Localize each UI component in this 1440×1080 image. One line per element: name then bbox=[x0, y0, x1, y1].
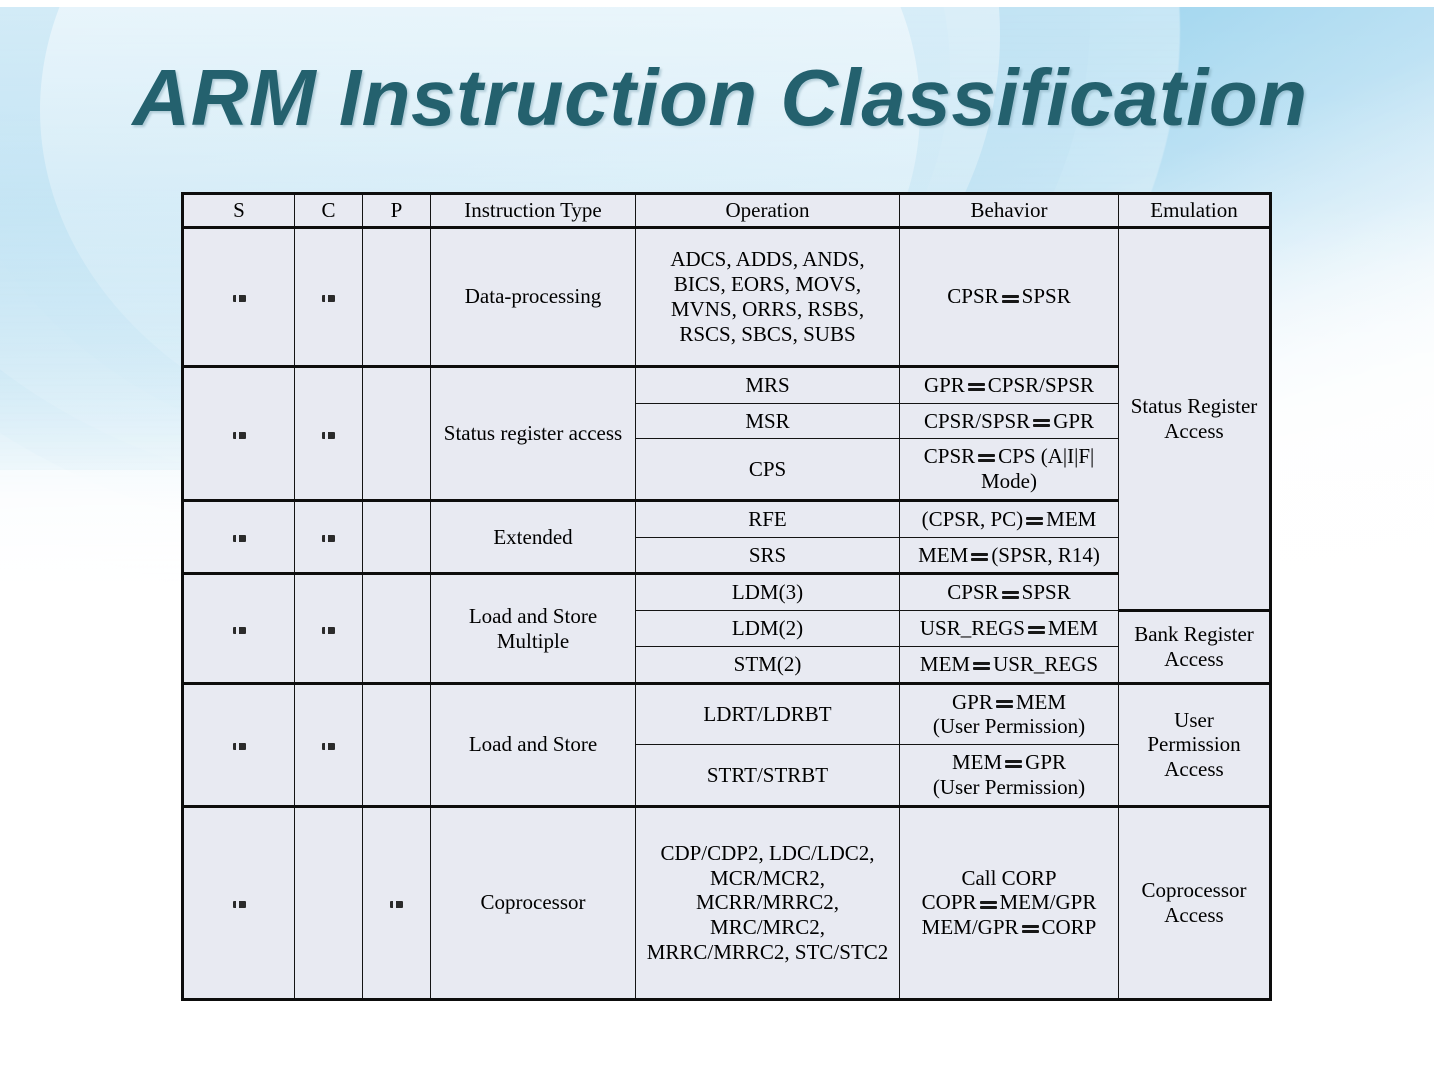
behavior-source: (CPSR, PC) bbox=[922, 507, 1024, 531]
slide-canvas: ARM Instruction Classification S C P Ins… bbox=[0, 0, 1440, 1080]
behavior-target: GPR bbox=[1025, 750, 1066, 774]
cell-operation-cps: CPS bbox=[636, 439, 900, 501]
table-header: S C P Instruction Type Operation Behavio… bbox=[183, 194, 1271, 228]
cell-operation-msr: MSR bbox=[636, 403, 900, 439]
cell-s-extended bbox=[183, 500, 295, 574]
column-header-instruction-type: Instruction Type bbox=[431, 194, 636, 228]
cell-s-load-store-multiple bbox=[183, 574, 295, 683]
check-icon bbox=[233, 625, 246, 636]
page-title: ARM Instruction Classification bbox=[0, 52, 1440, 144]
cell-s-load-store bbox=[183, 683, 295, 806]
behavior-target: MEM bbox=[1048, 616, 1098, 640]
cell-operation-coprocessor: CDP/CDP2, LDC/LDC2, MCR/MCR2, MCRR/MRRC2… bbox=[636, 806, 900, 999]
cell-behavior-stm2: MEMUSR_REGS bbox=[900, 646, 1119, 683]
cell-p-status-register-access bbox=[363, 366, 431, 500]
behavior-source: MEM/GPR bbox=[922, 915, 1019, 939]
cell-c-coprocessor bbox=[295, 806, 363, 999]
behavior-target: MEM bbox=[1046, 507, 1096, 531]
behavior-source: CPSR bbox=[947, 284, 998, 308]
assign-arrow-icon bbox=[996, 698, 1013, 710]
behavior-source: MEM bbox=[918, 543, 968, 567]
cell-operation-rfe: RFE bbox=[636, 500, 900, 537]
cell-c-load-store-multiple bbox=[295, 574, 363, 683]
behavior-source: COPR bbox=[922, 890, 977, 914]
check-icon bbox=[233, 741, 246, 752]
cell-p-load-store-multiple bbox=[363, 574, 431, 683]
check-icon bbox=[322, 430, 335, 441]
assign-arrow-icon bbox=[1028, 624, 1045, 636]
table-row: Load and Store Multiple LDM(3) CPSRSPSR bbox=[183, 574, 1271, 611]
behavior-source: MEM bbox=[952, 750, 1002, 774]
assign-arrow-icon bbox=[968, 381, 985, 393]
assign-arrow-icon bbox=[1002, 293, 1019, 305]
cell-s-data-processing bbox=[183, 227, 295, 366]
table-body: Data-processing ADCS, ADDS, ANDS, BICS, … bbox=[183, 227, 1271, 999]
assign-arrow-icon bbox=[973, 660, 990, 672]
cell-type-coprocessor: Coprocessor bbox=[431, 806, 636, 999]
cell-operation-ldm2: LDM(2) bbox=[636, 611, 900, 647]
check-icon bbox=[233, 430, 246, 441]
column-header-emulation: Emulation bbox=[1119, 194, 1271, 228]
column-header-behavior: Behavior bbox=[900, 194, 1119, 228]
cell-c-data-processing bbox=[295, 227, 363, 366]
cell-type-extended: Extended bbox=[431, 500, 636, 574]
cell-type-load-store-multiple: Load and Store Multiple bbox=[431, 574, 636, 683]
assign-arrow-icon bbox=[978, 452, 995, 464]
behavior-source: CPSR bbox=[947, 580, 998, 604]
cell-c-load-store bbox=[295, 683, 363, 806]
behavior-target: CPSR/SPSR bbox=[988, 373, 1094, 397]
behavior-target: GPR bbox=[1053, 409, 1094, 433]
background-top-margin bbox=[0, 0, 1440, 7]
cell-behavior-mrs: GPRCPSR/SPSR bbox=[900, 366, 1119, 403]
table-row: Load and Store LDRT/LDRBT GPRMEM (User P… bbox=[183, 683, 1271, 745]
behavior-target: SPSR bbox=[1022, 284, 1071, 308]
table-row: Extended RFE (CPSR, PC)MEM bbox=[183, 500, 1271, 537]
cell-operation-stm2: STM(2) bbox=[636, 646, 900, 683]
behavior-source: CPSR/SPSR bbox=[924, 409, 1030, 433]
check-icon bbox=[322, 625, 335, 636]
cell-operation-ldrt: LDRT/LDRBT bbox=[636, 683, 900, 745]
instruction-classification-table: S C P Instruction Type Operation Behavio… bbox=[181, 192, 1272, 1001]
cell-emulation-bank-register-access: Bank Register Access bbox=[1119, 611, 1271, 684]
cell-s-status-register-access bbox=[183, 366, 295, 500]
behavior-title: Call CORP bbox=[906, 866, 1112, 891]
behavior-target: CORP bbox=[1042, 915, 1097, 939]
behavior-note: (User Permission) bbox=[906, 714, 1112, 739]
assign-arrow-icon bbox=[1005, 758, 1022, 770]
cell-type-data-processing: Data-processing bbox=[431, 227, 636, 366]
cell-p-coprocessor bbox=[363, 806, 431, 999]
assign-arrow-icon bbox=[1022, 923, 1039, 935]
cell-type-load-store: Load and Store bbox=[431, 683, 636, 806]
check-icon bbox=[322, 533, 335, 544]
cell-c-status-register-access bbox=[295, 366, 363, 500]
cell-operation-strt: STRT/STRBT bbox=[636, 745, 900, 807]
assign-arrow-icon bbox=[1002, 589, 1019, 601]
behavior-target: USR_REGS bbox=[993, 652, 1098, 676]
cell-behavior-coprocessor: Call CORP COPRMEM/GPR MEM/GPRCORP bbox=[900, 806, 1119, 999]
cell-emulation-coprocessor-access: Coprocessor Access bbox=[1119, 806, 1271, 999]
cell-operation-srs: SRS bbox=[636, 537, 900, 574]
behavior-source: GPR bbox=[924, 373, 965, 397]
cell-behavior-srs: MEM(SPSR, R14) bbox=[900, 537, 1119, 574]
table-row: Data-processing ADCS, ADDS, ANDS, BICS, … bbox=[183, 227, 1271, 366]
behavior-target: MEM bbox=[1016, 690, 1066, 714]
behavior-target: SPSR bbox=[1022, 580, 1071, 604]
column-header-operation: Operation bbox=[636, 194, 900, 228]
check-icon bbox=[233, 533, 246, 544]
behavior-source: CPSR bbox=[924, 444, 975, 468]
assign-arrow-icon bbox=[1026, 515, 1043, 527]
behavior-source: GPR bbox=[952, 690, 993, 714]
behavior-note: (User Permission) bbox=[906, 775, 1112, 800]
cell-behavior-data-processing: CPSRSPSR bbox=[900, 227, 1119, 366]
assign-arrow-icon bbox=[1033, 417, 1050, 429]
cell-behavior-rfe: (CPSR, PC)MEM bbox=[900, 500, 1119, 537]
cell-emulation-status-register-access: Status Register Access bbox=[1119, 227, 1271, 610]
table-header-row: S C P Instruction Type Operation Behavio… bbox=[183, 194, 1271, 228]
cell-behavior-ldm2: USR_REGSMEM bbox=[900, 611, 1119, 647]
check-icon bbox=[233, 293, 246, 304]
check-icon bbox=[390, 899, 403, 910]
column-header-s: S bbox=[183, 194, 295, 228]
cell-operation-mrs: MRS bbox=[636, 366, 900, 403]
cell-operation-ldm3: LDM(3) bbox=[636, 574, 900, 611]
cell-p-data-processing bbox=[363, 227, 431, 366]
cell-behavior-msr: CPSR/SPSRGPR bbox=[900, 403, 1119, 439]
cell-type-status-register-access: Status register access bbox=[431, 366, 636, 500]
check-icon bbox=[233, 899, 246, 910]
behavior-target: MEM/GPR bbox=[1000, 890, 1097, 914]
assign-arrow-icon bbox=[980, 899, 997, 911]
cell-emulation-user-permission-access: User Permission Access bbox=[1119, 683, 1271, 806]
cell-c-extended bbox=[295, 500, 363, 574]
behavior-source: MEM bbox=[920, 652, 970, 676]
assign-arrow-icon bbox=[971, 551, 988, 563]
instruction-classification-table-wrapper: S C P Instruction Type Operation Behavio… bbox=[181, 192, 1269, 1001]
table-row: Status register access MRS GPRCPSR/SPSR bbox=[183, 366, 1271, 403]
background-right-margin bbox=[1434, 0, 1440, 1080]
column-header-p: P bbox=[363, 194, 431, 228]
check-icon bbox=[322, 741, 335, 752]
cell-operation-data-processing: ADCS, ADDS, ANDS, BICS, EORS, MOVS, MVNS… bbox=[636, 227, 900, 366]
cell-behavior-ldm3: CPSRSPSR bbox=[900, 574, 1119, 611]
behavior-target: (SPSR, R14) bbox=[991, 543, 1100, 567]
cell-behavior-cps: CPSRCPS (A|I|F| Mode) bbox=[900, 439, 1119, 501]
behavior-source: USR_REGS bbox=[920, 616, 1025, 640]
cell-p-extended bbox=[363, 500, 431, 574]
check-icon bbox=[322, 293, 335, 304]
cell-behavior-ldrt: GPRMEM (User Permission) bbox=[900, 683, 1119, 745]
table-row: Coprocessor CDP/CDP2, LDC/LDC2, MCR/MCR2… bbox=[183, 806, 1271, 999]
cell-behavior-strt: MEMGPR (User Permission) bbox=[900, 745, 1119, 807]
column-header-c: C bbox=[295, 194, 363, 228]
cell-s-coprocessor bbox=[183, 806, 295, 999]
cell-p-load-store bbox=[363, 683, 431, 806]
behavior-target: CPS (A|I|F| Mode) bbox=[981, 444, 1094, 493]
